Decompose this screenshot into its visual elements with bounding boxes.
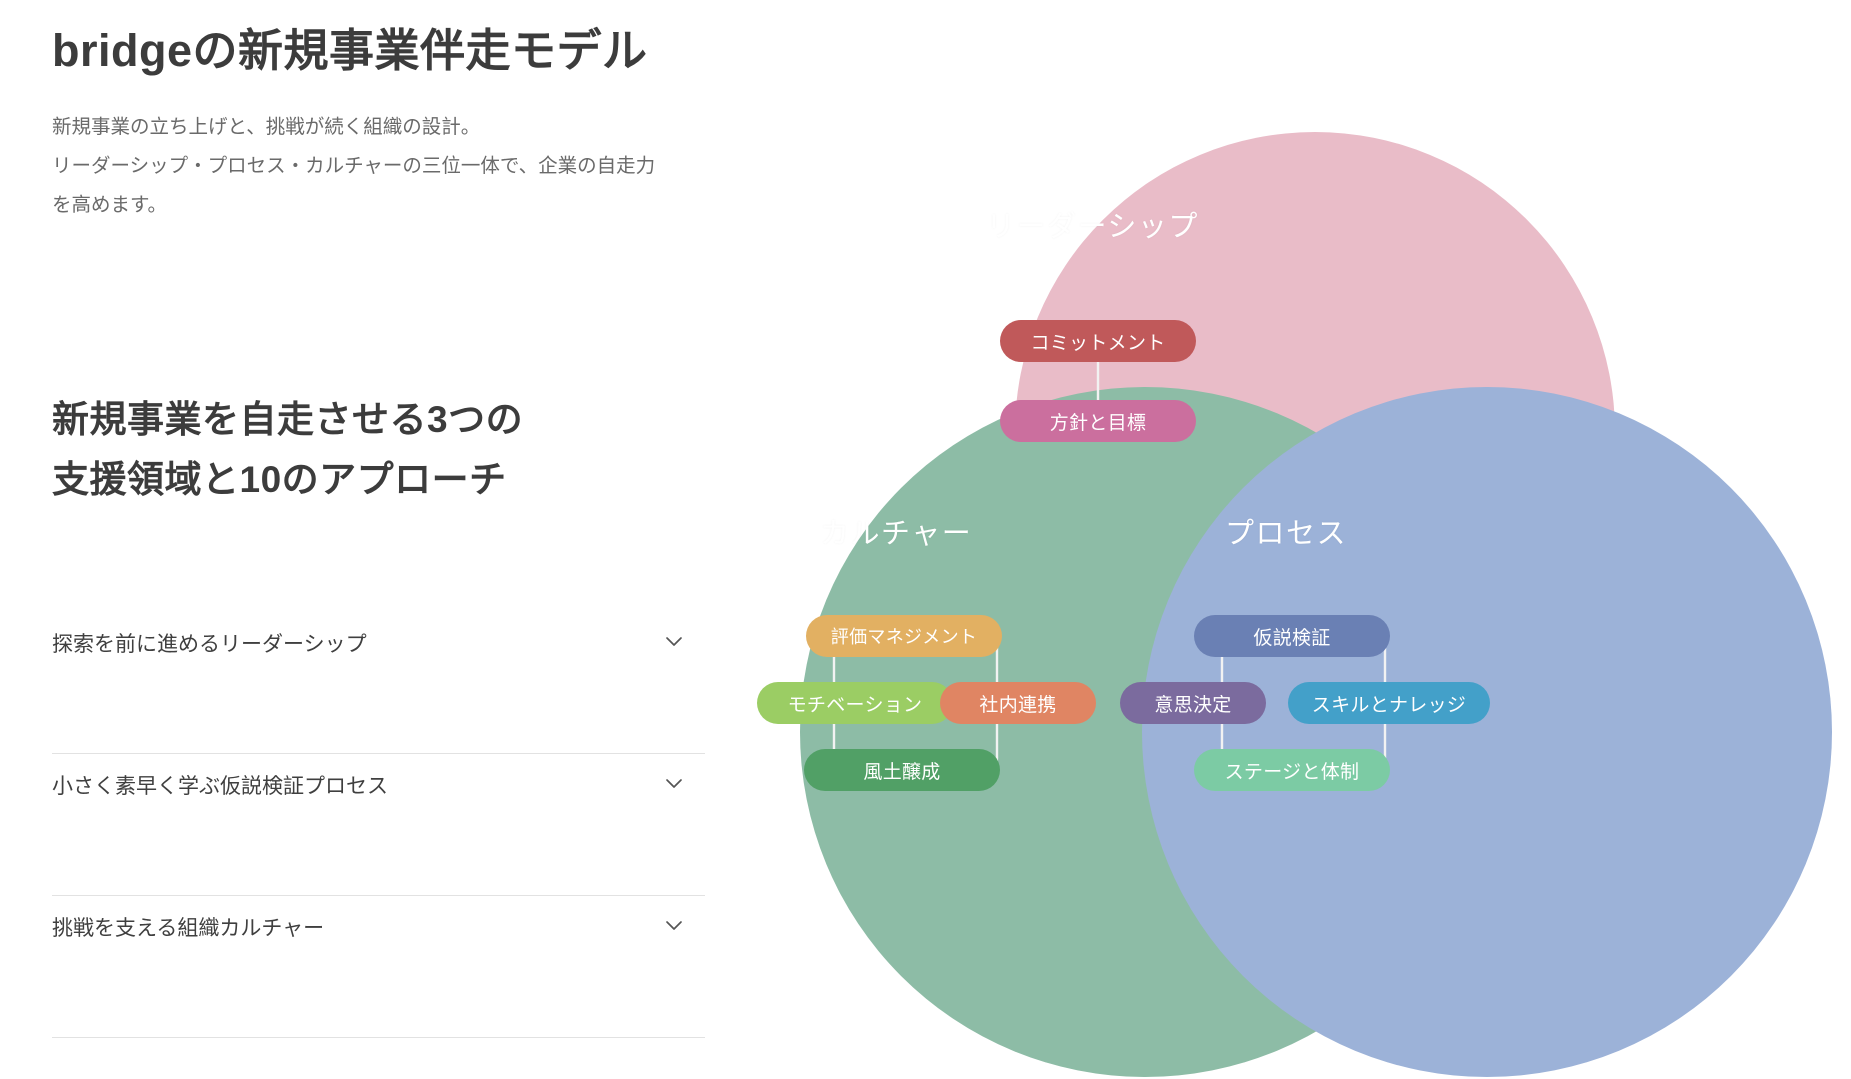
accordion-item-process[interactable]: 小さく素早く学ぶ仮説検証プロセス [52, 754, 705, 896]
chevron-down-icon[interactable] [663, 772, 685, 794]
section-title: 新規事業を自走させる3つの 支援領域と10のアプローチ [52, 390, 712, 510]
accordion-item-label: 小さく素早く学ぶ仮説検証プロセス [52, 770, 388, 800]
pill-decision-making[interactable]: 意思決定 [1120, 682, 1266, 724]
venn-circles [780, 112, 1851, 1079]
section-title-line-1: 新規事業を自走させる3つの [52, 390, 712, 450]
lead-line-3: を高めます。 [52, 186, 712, 225]
accordion-item-culture[interactable]: 挑戦を支える組織カルチャー [52, 896, 705, 1038]
venn-circle-process [1142, 387, 1832, 1077]
page-root: bridgeの新規事業伴走モデル 新規事業の立ち上げと、挑戦が続く組織の設計。 … [0, 0, 1851, 1079]
page-title: bridgeの新規事業伴走モデル [52, 14, 648, 79]
chevron-down-icon[interactable] [663, 630, 685, 652]
pill-policy-and-goals[interactable]: 方針と目標 [1000, 400, 1196, 442]
left-content-column: bridgeの新規事業伴走モデル 新規事業の立ち上げと、挑戦が続く組織の設計。 … [0, 0, 800, 1079]
lead-paragraph: 新規事業の立ち上げと、挑戦が続く組織の設計。 リーダーシップ・プロセス・カルチャ… [52, 108, 712, 225]
lead-line-2: リーダーシップ・プロセス・カルチャーの三位一体で、企業の自走力 [52, 147, 712, 186]
section-title-line-2: 支援領域と10のアプローチ [52, 450, 712, 510]
chevron-down-icon[interactable] [663, 914, 685, 936]
accordion-item-label: 挑戦を支える組織カルチャー [52, 912, 324, 942]
pill-culture-cultivation[interactable]: 風土醸成 [804, 749, 1000, 791]
pill-skills-and-knowledge[interactable]: スキルとナレッジ [1288, 682, 1490, 724]
accordion-item-leadership[interactable]: 探索を前に進めるリーダーシップ [52, 612, 705, 754]
pill-stages-and-structure[interactable]: ステージと体制 [1194, 749, 1390, 791]
accordion-item-label: 探索を前に進めるリーダーシップ [52, 628, 367, 658]
venn-label-culture: カルチャー [820, 510, 972, 552]
approach-accordion: 探索を前に進めるリーダーシップ 小さく素早く学ぶ仮説検証プロセス 挑戦を支える組… [52, 612, 705, 1038]
venn-label-leadership: リーダーシップ [986, 203, 1199, 245]
venn-label-process: プロセス [1225, 510, 1347, 552]
lead-line-1: 新規事業の立ち上げと、挑戦が続く組織の設計。 [52, 108, 712, 147]
pill-commitment[interactable]: コミットメント [1000, 320, 1196, 362]
pill-evaluation-management[interactable]: 評価マネジメント [806, 615, 1002, 657]
venn-diagram: リーダーシップ カルチャー プロセス コミットメント 方針と目標 評価マネジメン… [780, 112, 1851, 1079]
pill-motivation[interactable]: モチベーション [757, 682, 953, 724]
pill-internal-collaboration[interactable]: 社内連携 [940, 682, 1096, 724]
pill-hypothesis-validation[interactable]: 仮説検証 [1194, 615, 1390, 657]
